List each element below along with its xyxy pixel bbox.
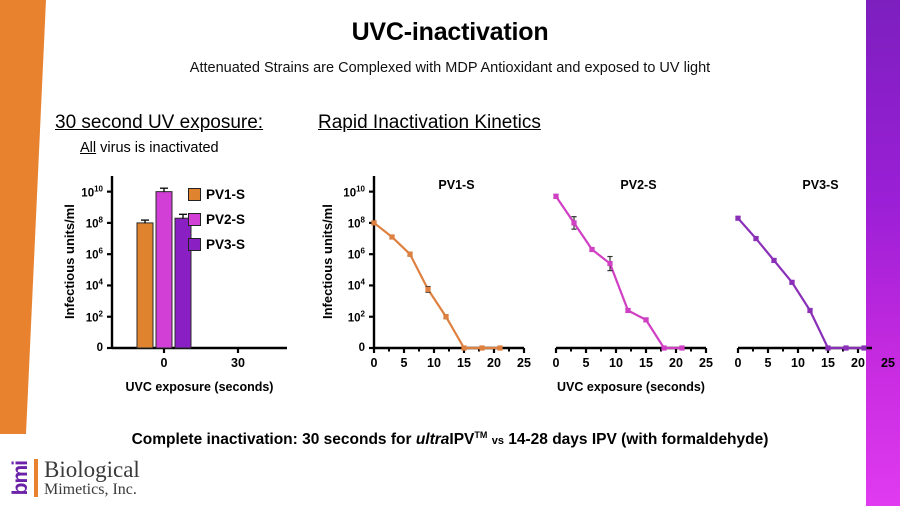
legend-swatch-pv3-icon [188,238,201,251]
legend-label: PV3-S [206,237,245,252]
legend-item: PV1-S [188,182,245,207]
kinetics-chart: 01021041061081010Infectious units/ml0510… [316,168,872,383]
logo-divider [34,459,38,497]
caption-trademark: TM [474,430,487,440]
legend-item: PV2-S [188,207,245,232]
slide-caption: Complete inactivation: 30 seconds for ul… [0,430,900,449]
section-heading-right: Rapid Inactivation Kinetics [318,112,541,134]
slide-root: UVC-inactivation Attenuated Strains are … [0,0,900,506]
caption-ipv: IPV [449,431,474,448]
company-logo: bmi Biological Mimetics, Inc. [8,458,140,498]
bmi-mark-text: bmi [10,461,31,495]
section-subheading-left: All virus is inactivated [80,140,219,156]
page-subtitle: Attenuated Strains are Complexed with MD… [0,60,900,76]
page-title: UVC-inactivation [0,18,900,47]
section-subheading-left-emphasis: All [80,140,96,156]
section-subheading-left-rest: virus is inactivated [96,140,219,156]
bmi-mark-icon: bmi [8,458,32,498]
caption-vs: vs [492,435,504,447]
legend-label: PV2-S [206,212,245,227]
section-heading-left: 30 second UV exposure: [55,112,263,134]
legend-label: PV1-S [206,187,245,202]
caption-prefix: Complete inactivation: 30 seconds for [132,431,416,448]
legend-swatch-pv1-icon [188,188,201,201]
logo-line-2: Mimetics, Inc. [44,482,140,498]
logo-wordmark: Biological Mimetics, Inc. [44,458,140,498]
legend-item: PV3-S [188,232,245,257]
legend-swatch-pv2-icon [188,213,201,226]
bar-chart-legend: PV1-S PV2-S PV3-S [188,182,245,257]
caption-suffix: 14-28 days IPV (with formaldehyde) [508,431,768,448]
logo-line-1: Biological [44,458,140,481]
caption-italic: ultra [416,431,450,448]
